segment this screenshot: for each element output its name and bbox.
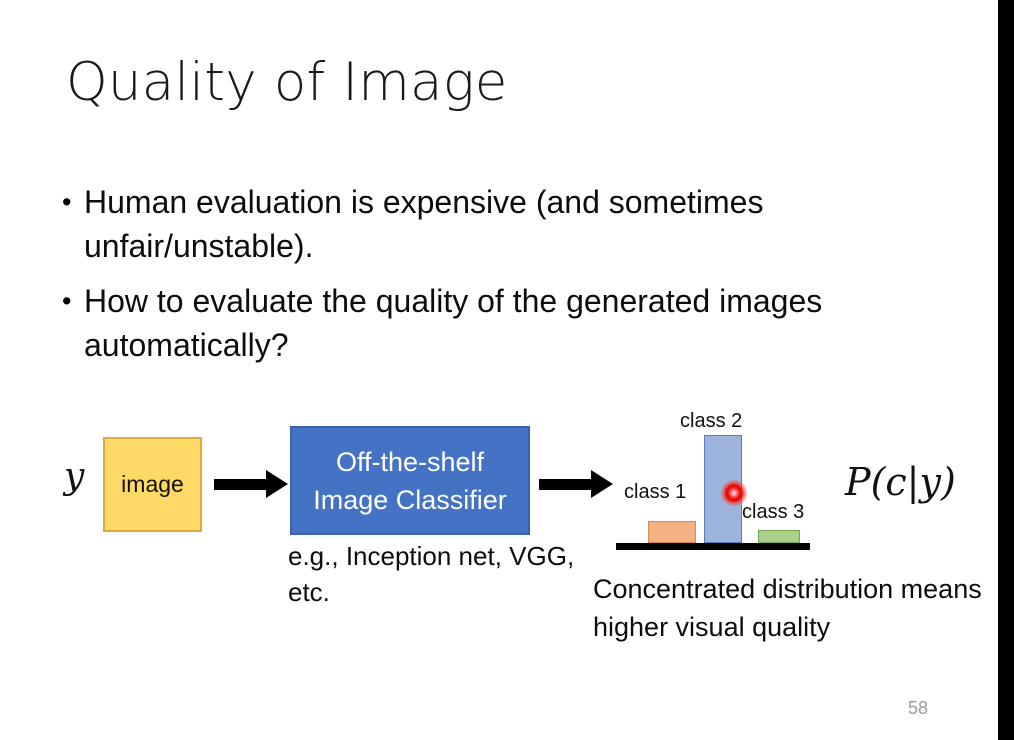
bullet-text: How to evaluate the quality of the gener… — [84, 279, 892, 367]
bar-label-class-1: class 1 — [624, 481, 686, 504]
arrow-right-icon — [539, 470, 613, 498]
image-node-box: image — [103, 437, 202, 532]
class-probability-bar-chart: class 1 class 2 class 3 — [616, 405, 816, 550]
list-item: • How to evaluate the quality of the gen… — [62, 279, 892, 367]
image-node-label: image — [121, 471, 184, 498]
page-title: Quality of Image — [66, 52, 508, 113]
arrow-head — [591, 470, 613, 498]
right-edge-band — [998, 0, 1014, 740]
classifier-example-note: e.g., Inception net, VGG, etc. — [288, 538, 578, 610]
input-variable-label: y — [64, 456, 84, 497]
arrow-right-icon — [214, 470, 288, 498]
classifier-label-line2: Image Classifier — [313, 481, 507, 519]
bar-class-1 — [648, 521, 696, 543]
page-number: 58 — [908, 698, 928, 719]
classifier-node-box: Off-the-shelf Image Classifier — [290, 426, 530, 535]
bullet-list: • Human evaluation is expensive (and som… — [62, 180, 892, 378]
bar-label-class-3: class 3 — [742, 501, 804, 524]
arrow-shaft — [214, 479, 268, 490]
list-item: • Human evaluation is expensive (and som… — [62, 180, 892, 268]
bullet-marker-icon: • — [62, 279, 84, 323]
chart-baseline-axis — [616, 543, 810, 550]
probability-formula: P(c|y) — [845, 460, 956, 504]
bullet-text: Human evaluation is expensive (and somet… — [84, 180, 892, 268]
slide-canvas: Quality of Image • Human evaluation is e… — [0, 0, 998, 740]
arrow-shaft — [539, 479, 593, 490]
laser-pointer-dot-icon — [721, 480, 747, 506]
bullet-marker-icon: • — [62, 180, 84, 224]
classifier-label-line1: Off-the-shelf — [336, 443, 484, 481]
chart-caption: Concentrated distribution means higher v… — [593, 570, 993, 646]
arrow-head — [266, 470, 288, 498]
bar-class-3 — [758, 530, 800, 543]
bar-label-class-2: class 2 — [680, 410, 742, 433]
